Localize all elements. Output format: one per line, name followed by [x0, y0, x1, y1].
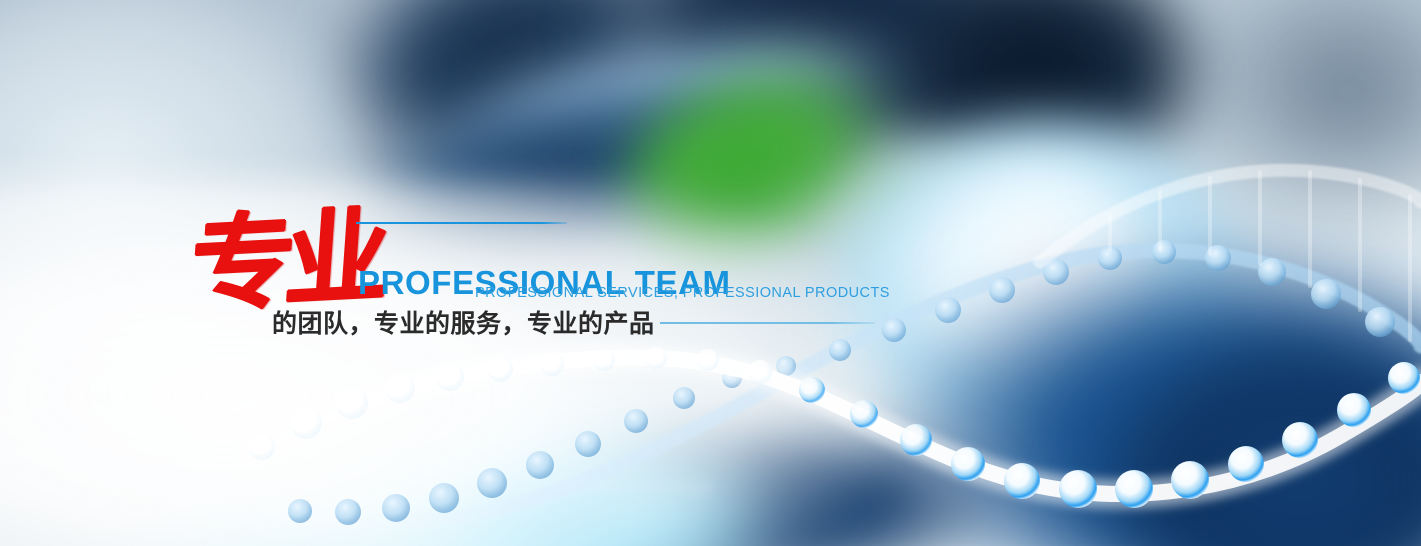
background-shape-deep-blue-field	[900, 250, 1421, 546]
professional-team-banner: biotechnology	[0, 0, 1421, 546]
background-shape-glassware-highlight	[930, 175, 1150, 385]
background-shape-instrument-center	[600, 0, 1030, 140]
divider-top	[356, 222, 567, 224]
subheadline: PROFESSIONAL SERVICES, PROFESSIONAL PROD…	[475, 286, 890, 301]
background-shape-deep-blue-field-2	[1090, 330, 1421, 546]
background-vignette-top-right	[1161, 0, 1421, 240]
background-shape-steel-bench	[424, 3, 917, 197]
divider-bottom	[660, 322, 875, 324]
background-white-veil	[0, 180, 880, 546]
background-shape-instrument-left	[308, 0, 713, 200]
tagline: 的团队，专业的服务，专业的产品	[272, 308, 655, 339]
